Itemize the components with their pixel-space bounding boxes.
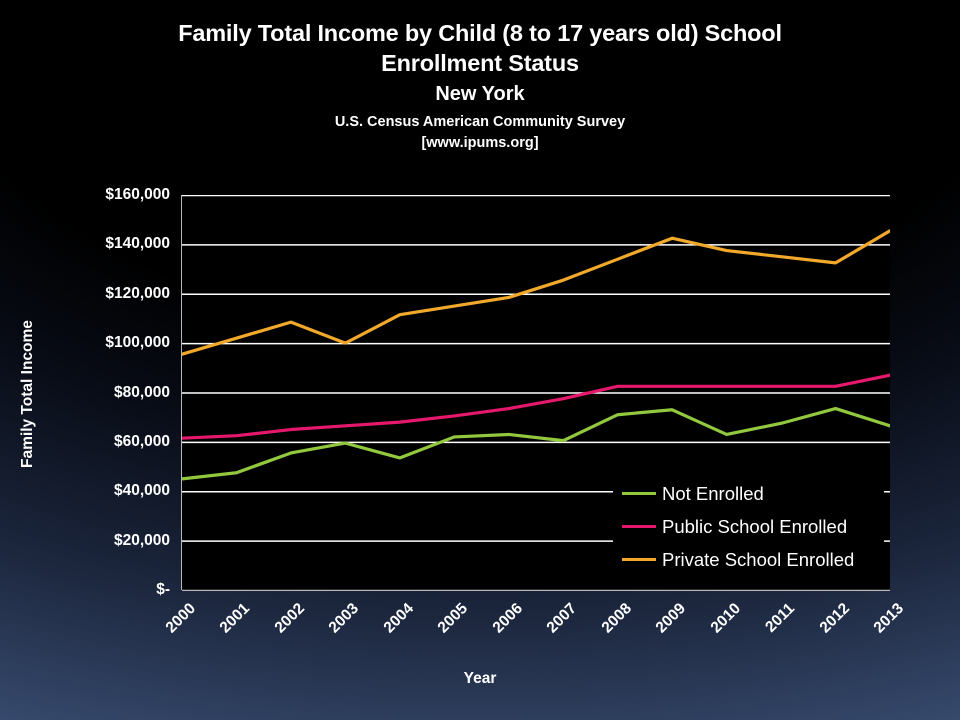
x-axis-tick-label: 2005 — [417, 600, 472, 655]
legend-item[interactable]: Not Enrolled — [613, 477, 884, 510]
x-axis-tick-label: 2006 — [471, 600, 526, 655]
x-axis-tick-label: 2013 — [853, 600, 908, 655]
x-axis-tick-label: 2001 — [199, 600, 254, 655]
legend-item-label: Public School Enrolled — [662, 517, 847, 537]
legend-item[interactable]: Private School Enrolled — [613, 543, 884, 576]
x-axis-tick-label: 2008 — [580, 600, 635, 655]
x-axis-tick-label: 2009 — [635, 600, 690, 655]
x-axis-tick-label: 2011 — [744, 600, 799, 655]
x-axis-tick-label: 2002 — [253, 600, 308, 655]
legend-swatch-icon — [622, 558, 656, 561]
x-axis-tick-label: 2010 — [689, 600, 744, 655]
x-axis-tick-label: 2004 — [362, 600, 417, 655]
chart-legend[interactable]: Not EnrolledPublic School EnrolledPrivat… — [613, 471, 884, 583]
x-axis-tick-label: 2003 — [308, 600, 363, 655]
legend-swatch-icon — [622, 492, 656, 495]
x-axis-tick-label: 2012 — [798, 600, 853, 655]
x-axis-tick-label: 2000 — [145, 600, 200, 655]
x-axis-title: Year — [0, 670, 960, 688]
legend-swatch-icon — [622, 525, 656, 528]
legend-item-label: Not Enrolled — [662, 484, 764, 504]
legend-item[interactable]: Public School Enrolled — [613, 510, 884, 543]
x-axis-tick-labels: 2000200120022003200420052006200720082009… — [0, 0, 960, 720]
legend-item-label: Private School Enrolled — [662, 550, 854, 570]
x-axis-tick-label: 2007 — [526, 600, 581, 655]
chart-container: Family Total Income by Child (8 to 17 ye… — [0, 0, 960, 720]
